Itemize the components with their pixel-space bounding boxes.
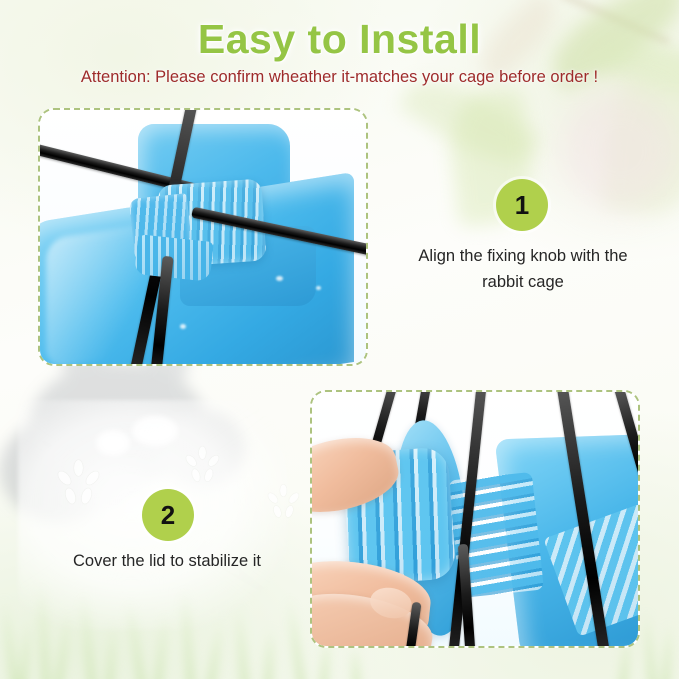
product-photo-lid-covered (312, 392, 638, 646)
infographic-canvas: Easy to Install Attention: Please confir… (0, 0, 679, 679)
step-1-instruction: Align the fixing knob with the rabbit ca… (396, 243, 650, 295)
blossom-blur-shape (560, 90, 679, 210)
water-droplet-shape (316, 286, 321, 290)
page-title: Easy to Install (0, 16, 679, 63)
fixing-knob-ring-shape (134, 234, 214, 282)
water-droplet-shape (180, 324, 186, 329)
product-photo-knob-aligned (40, 110, 366, 364)
step-2-instruction: Cover the lid to stabilize it (26, 548, 308, 574)
attention-notice: Attention: Please confirm wheather it-ma… (0, 68, 679, 87)
install-photo-panel-2 (310, 390, 640, 648)
water-droplet-shape (276, 276, 283, 281)
step-1-number-badge: 1 (496, 179, 548, 231)
step-2-number-badge: 2 (142, 489, 194, 541)
install-photo-panel-1 (38, 108, 368, 366)
